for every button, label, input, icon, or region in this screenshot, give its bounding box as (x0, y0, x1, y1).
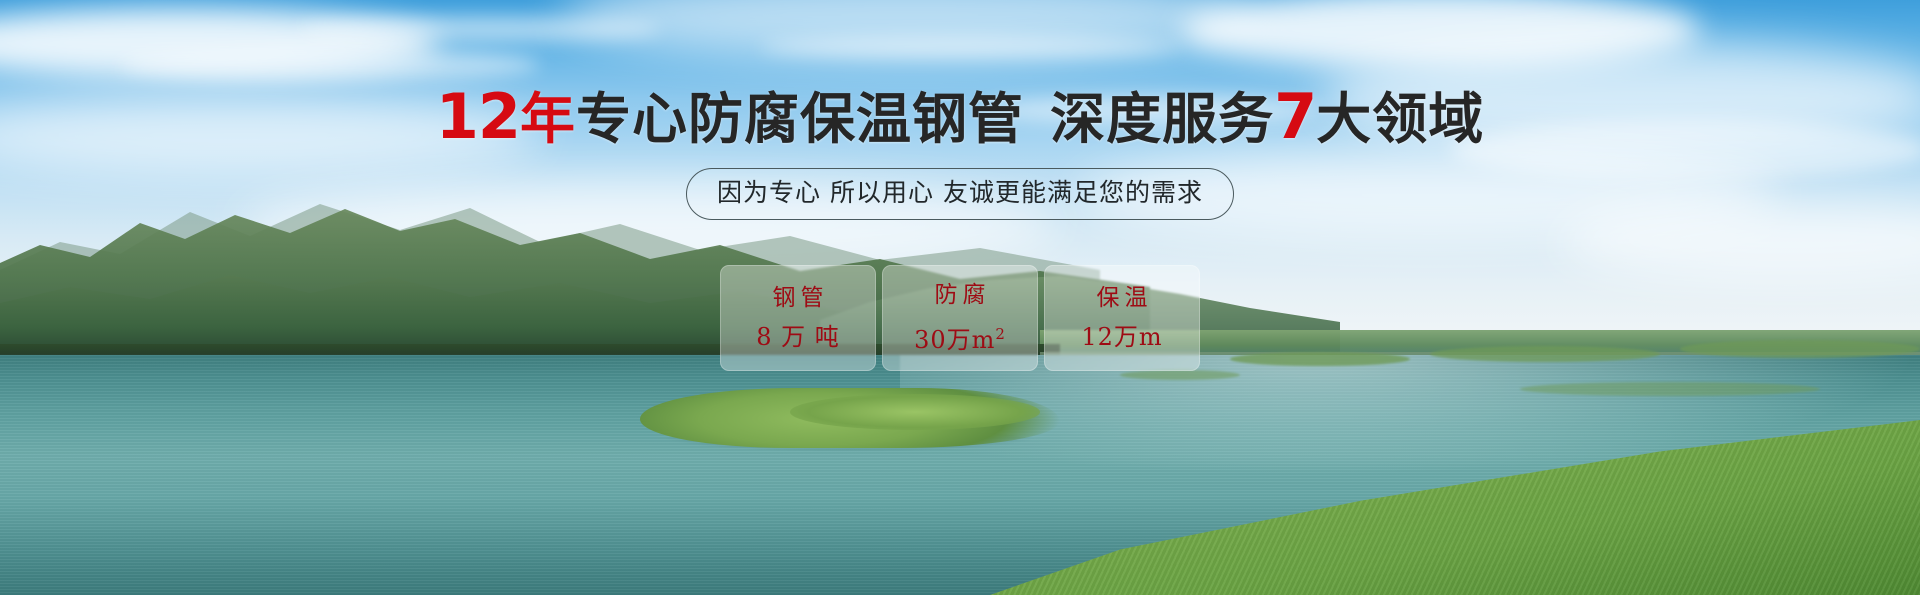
stat-card-value: 30万m2 (914, 321, 1006, 353)
headline-fields-text: 大领域 (1316, 87, 1484, 151)
stat-card-value-base: 30万m (914, 326, 995, 354)
stat-card-label: 钢管 (768, 286, 829, 310)
headline-service-text: 深度服务 (1050, 87, 1274, 151)
headline-years-number: 12 (436, 80, 520, 153)
stat-card: 钢管 8 万 吨 (720, 265, 876, 371)
headline: 12年专心防腐保温钢管深度服务7大领域 (0, 88, 1920, 148)
banner-content: 12年专心防腐保温钢管深度服务7大领域 因为专心 所以用心 友诚更能满足您的需求… (0, 0, 1920, 595)
stat-card-value: 8 万 吨 (756, 324, 840, 350)
headline-fields-number: 7 (1274, 80, 1316, 153)
stat-card-value-exponent: 2 (995, 325, 1006, 343)
promo-banner: 12年专心防腐保温钢管深度服务7大领域 因为专心 所以用心 友诚更能满足您的需求… (0, 0, 1920, 595)
stat-card: 防腐 30万m2 (882, 265, 1038, 371)
headline-main-text: 专心防腐保温钢管 (576, 87, 1024, 151)
stat-card-value-base: 8 万 吨 (756, 323, 840, 351)
stat-card-value: 12万m (1081, 324, 1162, 350)
stat-card-label: 保温 (1092, 286, 1153, 310)
stat-card: 保温 12万m (1044, 265, 1200, 371)
headline-years-unit: 年 (520, 87, 576, 151)
stat-card-label: 防腐 (930, 283, 991, 307)
subtitle-pill: 因为专心 所以用心 友诚更能满足您的需求 (686, 168, 1234, 220)
stat-card-value-base: 12万m (1081, 323, 1162, 351)
subtitle-container: 因为专心 所以用心 友诚更能满足您的需求 (0, 168, 1920, 220)
stat-cards: 钢管 8 万 吨 防腐 30万m2 保温 12万m (0, 265, 1920, 371)
